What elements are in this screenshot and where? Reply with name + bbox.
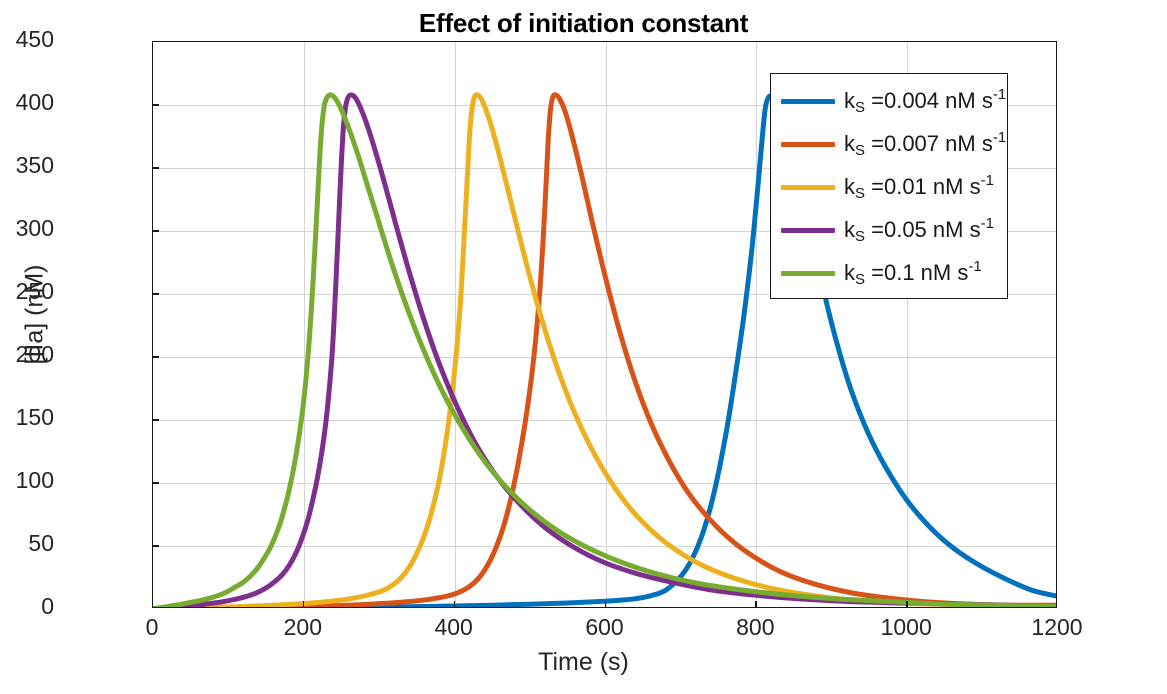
- y-axis-label: [IIa] (nM): [21, 225, 50, 405]
- x-tick-mark: [303, 601, 305, 608]
- x-tick-label: 0: [146, 614, 159, 641]
- y-tick-mark: [152, 230, 159, 232]
- y-tick-mark: [152, 167, 159, 169]
- y-tick-label: 350: [16, 152, 54, 179]
- y-tick-mark: [152, 293, 159, 295]
- legend-label: kS =0.01 nM s-1: [844, 174, 994, 200]
- legend-item-4[interactable]: kS =0.05 nM s-1: [781, 214, 994, 246]
- x-tick-label: 400: [434, 614, 472, 641]
- x-tick-mark: [605, 601, 607, 608]
- x-tick-label: 800: [736, 614, 774, 641]
- x-tick-mark: [906, 601, 908, 608]
- y-tick-label: 400: [16, 89, 54, 116]
- x-tick-label: 1000: [881, 614, 932, 641]
- legend-item-2[interactable]: kS =0.007 nM s-1: [781, 128, 1006, 160]
- y-tick-label: 0: [41, 593, 54, 620]
- y-tick-mark: [152, 419, 159, 421]
- legend-label: kS =0.004 nM s-1: [844, 88, 1006, 114]
- chart-figure: Effect of initiation constant 0501001502…: [0, 0, 1167, 694]
- y-tick-mark: [152, 482, 159, 484]
- x-tick-label: 1200: [1031, 614, 1082, 641]
- chart-legend[interactable]: kS =0.004 nM s-1kS =0.007 nM s-1kS =0.01…: [770, 73, 1008, 299]
- x-axis-label: Time (s): [0, 648, 1167, 677]
- legend-label: kS =0.05 nM s-1: [844, 217, 994, 243]
- y-tick-label: 50: [28, 530, 54, 557]
- legend-item-1[interactable]: kS =0.004 nM s-1: [781, 85, 1006, 117]
- y-tick-mark: [152, 545, 159, 547]
- y-tick-label: 450: [16, 26, 54, 53]
- y-tick-label: 150: [16, 404, 54, 431]
- x-tick-mark: [755, 601, 757, 608]
- chart-title: Effect of initiation constant: [0, 8, 1167, 39]
- x-tick-label: 600: [585, 614, 623, 641]
- y-tick-mark: [152, 356, 159, 358]
- legend-item-5[interactable]: kS =0.1 nM s-1: [781, 257, 982, 289]
- legend-color-swatch: [781, 142, 835, 147]
- legend-label: kS =0.1 nM s-1: [844, 260, 982, 286]
- y-tick-label: 100: [16, 467, 54, 494]
- x-tick-label: 200: [284, 614, 322, 641]
- legend-color-swatch: [781, 99, 835, 104]
- y-tick-mark: [152, 104, 159, 106]
- legend-color-swatch: [781, 185, 835, 190]
- legend-color-swatch: [781, 271, 835, 276]
- legend-item-3[interactable]: kS =0.01 nM s-1: [781, 171, 994, 203]
- legend-color-swatch: [781, 228, 835, 233]
- legend-label: kS =0.007 nM s-1: [844, 131, 1006, 157]
- x-tick-mark: [454, 601, 456, 608]
